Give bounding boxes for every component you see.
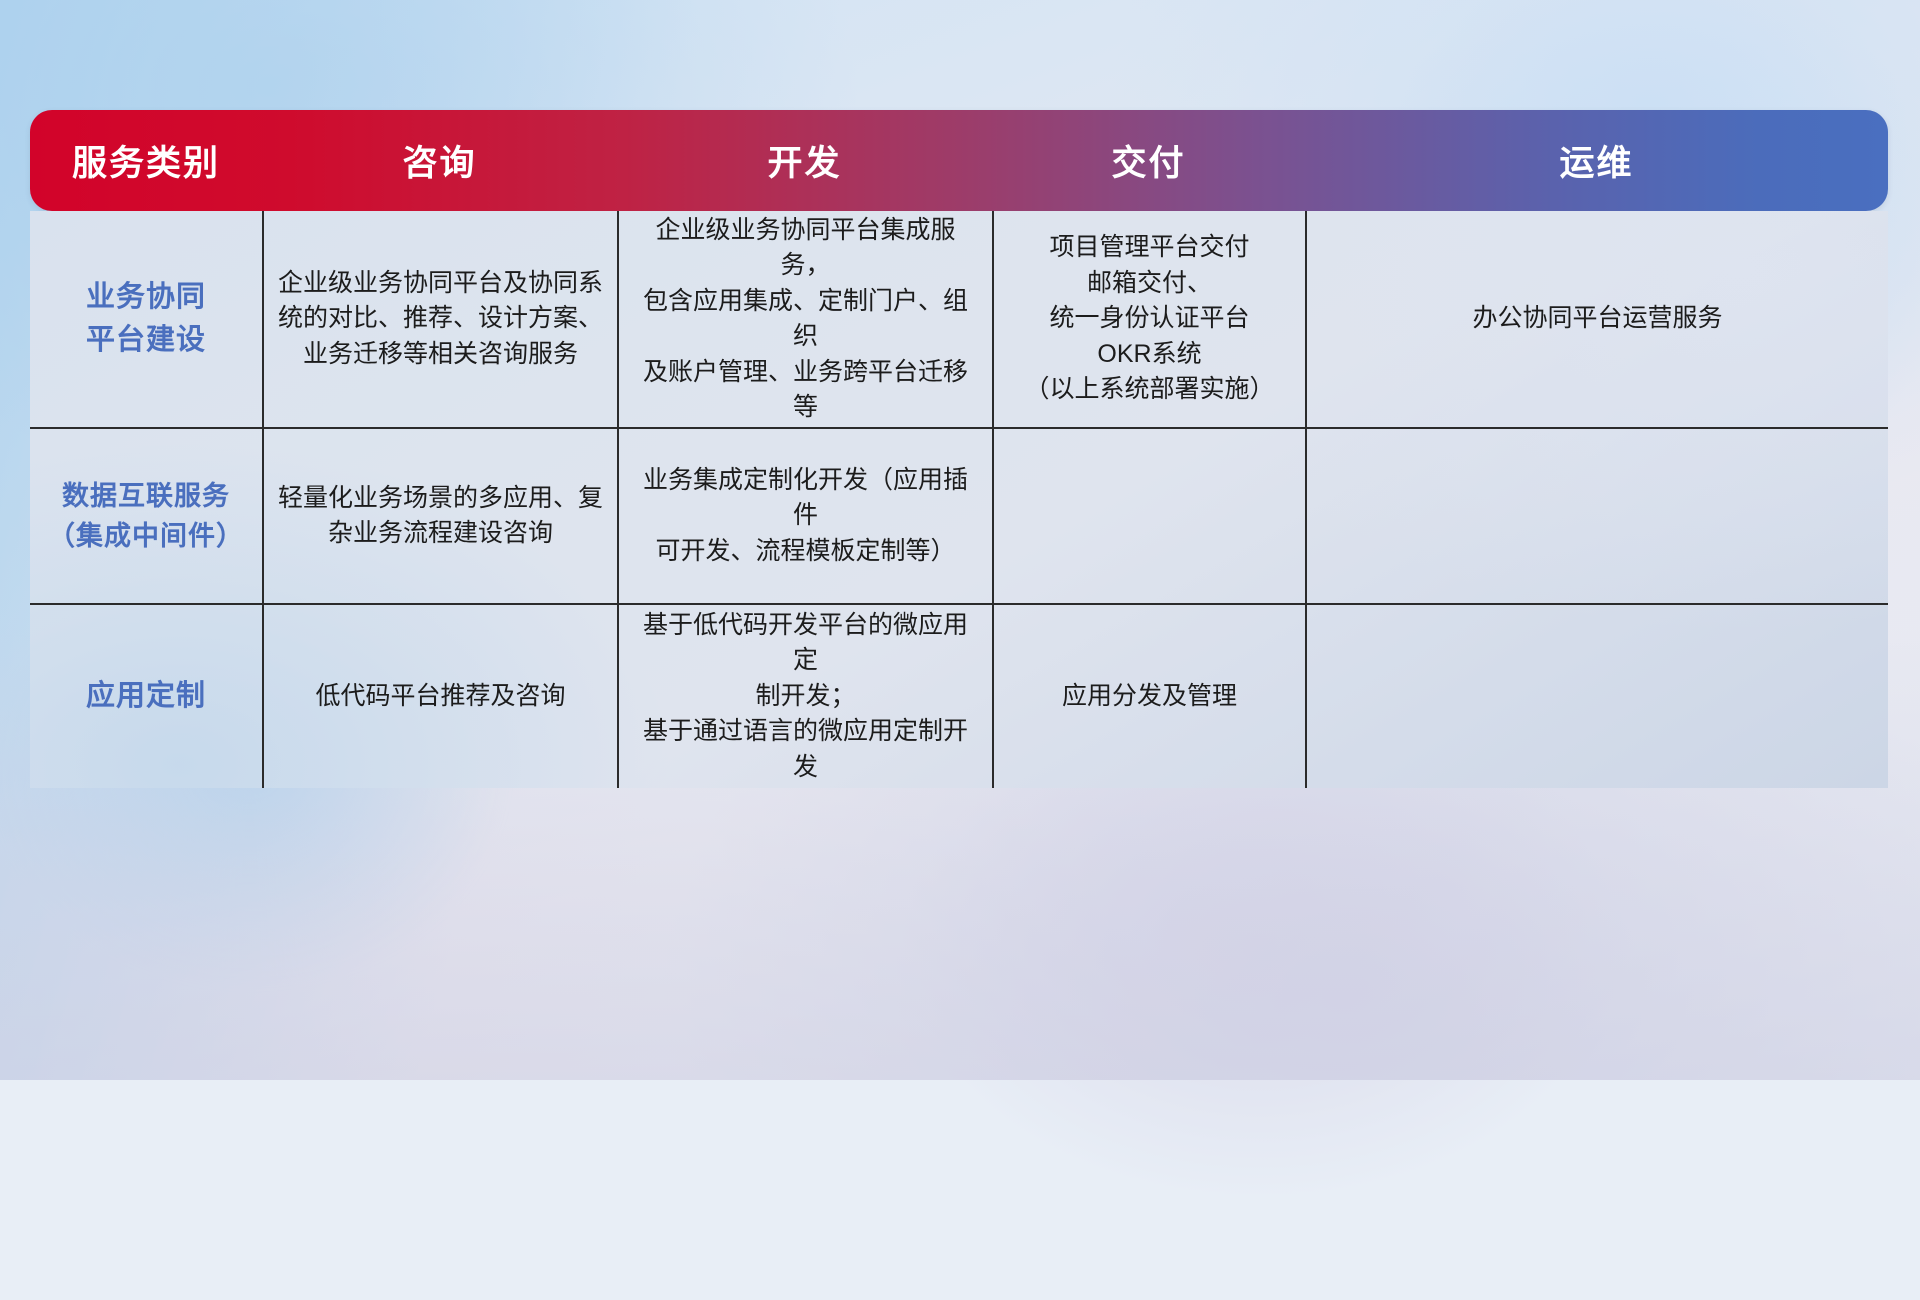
cell-development: 企业级业务协同平台集成服务， 包含应用集成、定制门户、组织 及账户管理、业务跨平… — [617, 211, 992, 427]
cell-operations — [1305, 429, 1888, 603]
table-header-row: 服务类别 咨询 开发 交付 运维 — [30, 110, 1888, 211]
column-header-development: 开发 — [617, 135, 992, 186]
table-row: 应用定制 低代码平台推荐及咨询 基于低代码开发平台的微应用定 制开发； 基于通过… — [30, 603, 1888, 788]
cell-delivery — [992, 429, 1305, 603]
cell-development: 基于低代码开发平台的微应用定 制开发； 基于通过语言的微应用定制开发 — [617, 605, 992, 788]
cell-operations: 办公协同平台运营服务 — [1305, 211, 1888, 427]
column-header-operations: 运维 — [1305, 135, 1888, 186]
cell-consulting: 低代码平台推荐及咨询 — [262, 605, 617, 788]
cell-development: 业务集成定制化开发（应用插件 可开发、流程模板定制等） — [617, 429, 992, 603]
cell-delivery: 应用分发及管理 — [992, 605, 1305, 788]
cell-consulting: 企业级业务协同平台及协同系 统的对比、推荐、设计方案、 业务迁移等相关咨询服务 — [262, 211, 617, 427]
row-category-label: 业务协同 平台建设 — [30, 211, 262, 427]
cell-consulting: 轻量化业务场景的多应用、复 杂业务流程建设咨询 — [262, 429, 617, 603]
cell-operations — [1305, 605, 1888, 788]
column-header-consulting: 咨询 — [262, 135, 617, 186]
row-category-label: 数据互联服务 （集成中间件） — [30, 429, 262, 603]
row-category-label: 应用定制 — [30, 605, 262, 788]
column-header-delivery: 交付 — [992, 135, 1305, 186]
column-header-service-category: 服务类别 — [30, 135, 262, 186]
service-matrix-table: 服务类别 咨询 开发 交付 运维 业务协同 平台建设 企业级业务协同平台及协同系… — [30, 110, 1888, 788]
table-body: 业务协同 平台建设 企业级业务协同平台及协同系 统的对比、推荐、设计方案、 业务… — [30, 211, 1888, 788]
table-row: 数据互联服务 （集成中间件） 轻量化业务场景的多应用、复 杂业务流程建设咨询 业… — [30, 427, 1888, 603]
cell-delivery: 项目管理平台交付 邮箱交付、 统一身份认证平台 OKR系统 （以上系统部署实施） — [992, 211, 1305, 427]
table-row: 业务协同 平台建设 企业级业务协同平台及协同系 统的对比、推荐、设计方案、 业务… — [30, 211, 1888, 427]
